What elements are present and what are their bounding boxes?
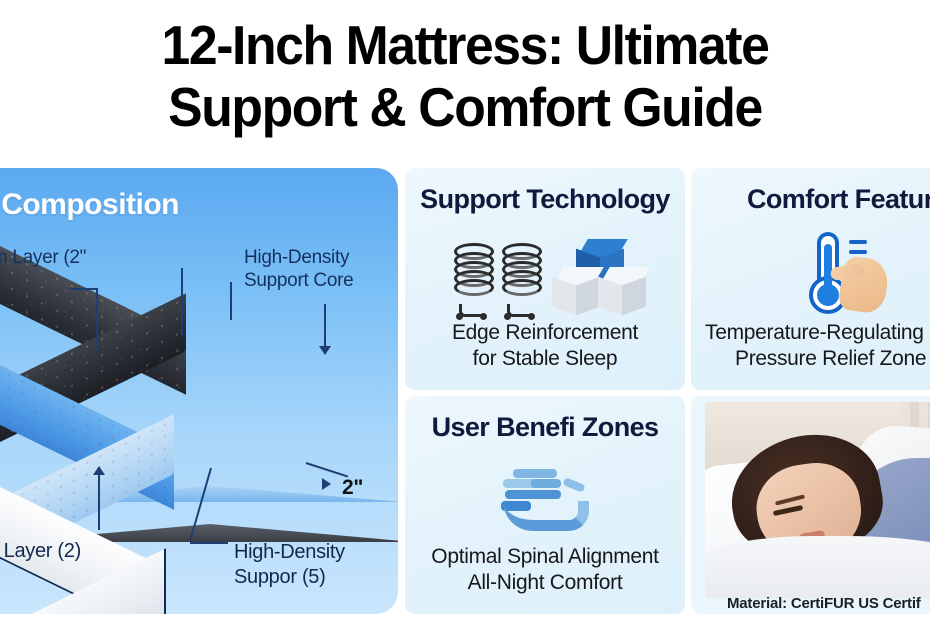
arrow-core xyxy=(319,346,331,355)
support-body-line-1: Edge Reinforcement xyxy=(405,320,685,346)
layer-composition-heading: er Composition xyxy=(0,188,179,222)
user-benefit-zones-body: Optimal Spinal Alignment All-Night Comfo… xyxy=(405,544,685,596)
spinal-alignment-icon xyxy=(497,467,593,537)
arrow-base xyxy=(93,466,105,475)
support-body-line-2: for Stable Sleep xyxy=(405,346,685,372)
photo-sheet xyxy=(705,536,930,598)
coil-spring-icon xyxy=(454,241,488,307)
comfort-features-panel: Comfort Feature Temperature-Regulating xyxy=(691,168,930,390)
leader-line-memory-foam xyxy=(181,268,183,336)
leader-line-hd-support-h xyxy=(190,542,228,544)
leader-line-comfort-h xyxy=(70,288,98,290)
leader-line-core-long xyxy=(324,304,326,348)
page-title: 12-Inch Mattress: Ultimate Support & Com… xyxy=(0,14,930,138)
user-benefit-zones-panel: User Benefi Zones Optimal Spinal Alignme… xyxy=(405,396,685,614)
leader-line-comfort-v xyxy=(96,288,98,350)
arrow-thickness xyxy=(322,478,331,490)
benefit-icon-row xyxy=(405,458,685,546)
leader-line-base xyxy=(98,474,100,530)
woman-sleeping-photo xyxy=(705,402,930,598)
material-certification-caption: Material: CertiFUR US Certif xyxy=(727,595,930,612)
callout-high-density-support-core: High-Density Support Core xyxy=(244,246,353,292)
callout-high-density-support: High-Density Suppor (5) xyxy=(234,540,345,590)
comfort-body-line-1: Temperature-Regulating xyxy=(705,320,930,346)
infographic-canvas: 12-Inch Mattress: Ultimate Support & Com… xyxy=(0,0,930,620)
sleep-photo-panel: Material: CertiFUR US Certif xyxy=(691,396,930,614)
benefit-body-line-1: Optimal Spinal Alignment xyxy=(405,544,685,570)
title-line-2: Support & Comfort Guide xyxy=(28,76,902,138)
foam-cubes-icon xyxy=(550,239,636,309)
layer-composition-panel: er Composition xyxy=(0,168,398,614)
support-technology-body: Edge Reinforcement for Stable Sleep xyxy=(405,320,685,372)
benefit-body-line-2: All-Night Comfort xyxy=(405,570,685,596)
support-icon-row xyxy=(405,230,685,318)
user-benefit-zones-heading: User Benefi Zones xyxy=(405,412,685,443)
thermometer-icon xyxy=(795,232,887,316)
callout-line-1: High-Density xyxy=(244,246,353,269)
coil-spring-icon xyxy=(502,241,536,307)
comfort-icon-row xyxy=(691,230,930,318)
callout-base-layer: Base Layer (2) xyxy=(0,540,81,563)
comfort-features-body: Temperature-Regulating Pressure Relief Z… xyxy=(691,320,930,372)
callout-thickness: 2" xyxy=(342,476,363,499)
comfort-body-line-2: Pressure Relief Zone xyxy=(705,346,930,372)
support-technology-panel: Support Technology xyxy=(405,168,685,390)
comfort-features-heading: Comfort Feature xyxy=(691,184,930,215)
hand-touch-icon xyxy=(837,255,890,315)
callout-line-1: High-Density xyxy=(234,540,345,565)
title-line-1: 12-Inch Mattress: Ultimate xyxy=(28,14,902,76)
callout-line-2: Suppor (5) xyxy=(234,565,345,590)
panel-grid: er Composition xyxy=(0,168,930,620)
support-technology-heading: Support Technology xyxy=(405,184,685,215)
leader-line-core-short xyxy=(230,282,232,320)
callout-line-2: Support Core xyxy=(244,269,353,292)
callout-memory-foam-layer: Foam Layer (2" xyxy=(0,246,86,269)
